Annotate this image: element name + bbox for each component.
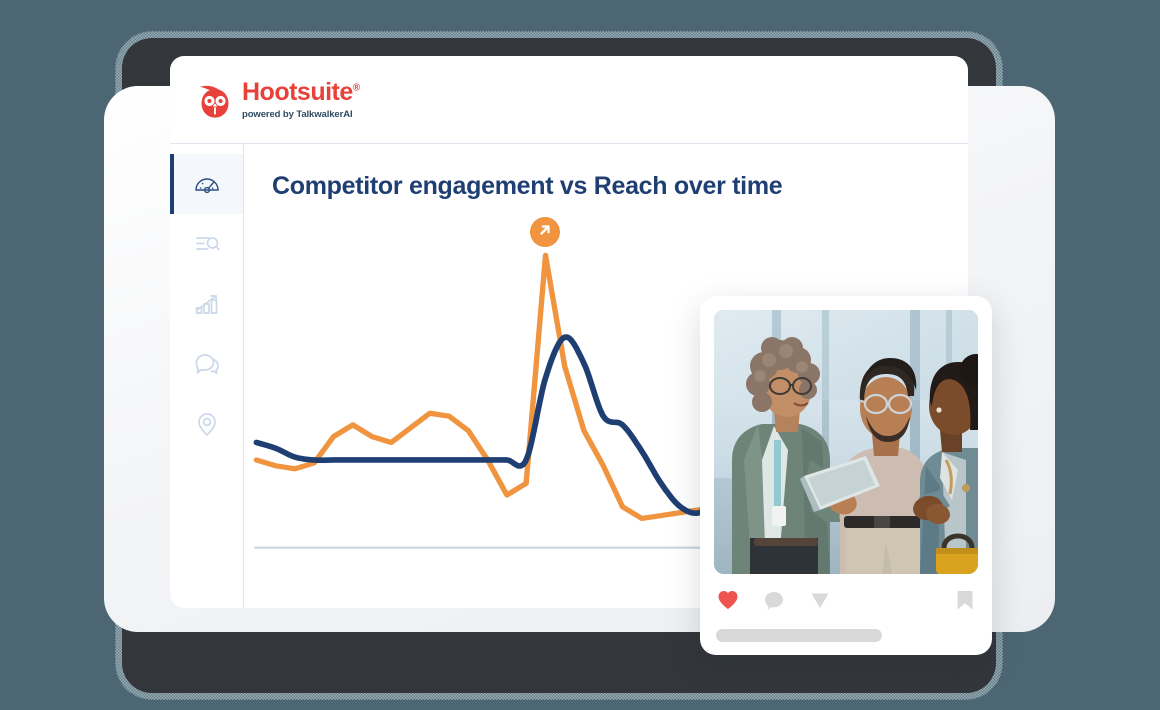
heart-icon[interactable] (716, 588, 740, 617)
chat-bubbles-icon (192, 349, 222, 379)
sidebar-item-listening[interactable] (170, 214, 243, 274)
registered-mark: ® (353, 82, 360, 93)
sidebar (170, 144, 244, 608)
brand-name: Hootsuite® (242, 80, 360, 105)
brand-logo[interactable]: Hootsuite® powered by TalkwalkerAI (196, 80, 360, 120)
brand-tagline: powered by TalkwalkerAI (242, 110, 360, 120)
list-search-icon (192, 229, 222, 259)
social-post-card[interactable] (700, 296, 992, 655)
page-title: Competitor engagement vs Reach over time (272, 172, 968, 201)
arrow-up-right-icon (537, 222, 553, 243)
sidebar-item-dashboard[interactable] (170, 154, 243, 214)
gauge-dashboard-icon (192, 169, 222, 199)
bar-chart-trend-icon (192, 289, 222, 319)
location-pin-icon (192, 409, 222, 439)
post-photo (714, 310, 978, 574)
caption-placeholder-bar (716, 629, 882, 642)
app-header: Hootsuite® powered by TalkwalkerAI (170, 56, 968, 144)
sidebar-item-analytics[interactable] (170, 274, 243, 334)
share-send-icon[interactable] (808, 588, 832, 617)
sidebar-item-locations[interactable] (170, 394, 243, 454)
post-actions (714, 588, 978, 617)
owl-icon (196, 82, 234, 120)
comment-bubble-icon[interactable] (762, 588, 786, 617)
sidebar-item-conversations[interactable] (170, 334, 243, 394)
bookmark-icon[interactable] (954, 588, 976, 617)
